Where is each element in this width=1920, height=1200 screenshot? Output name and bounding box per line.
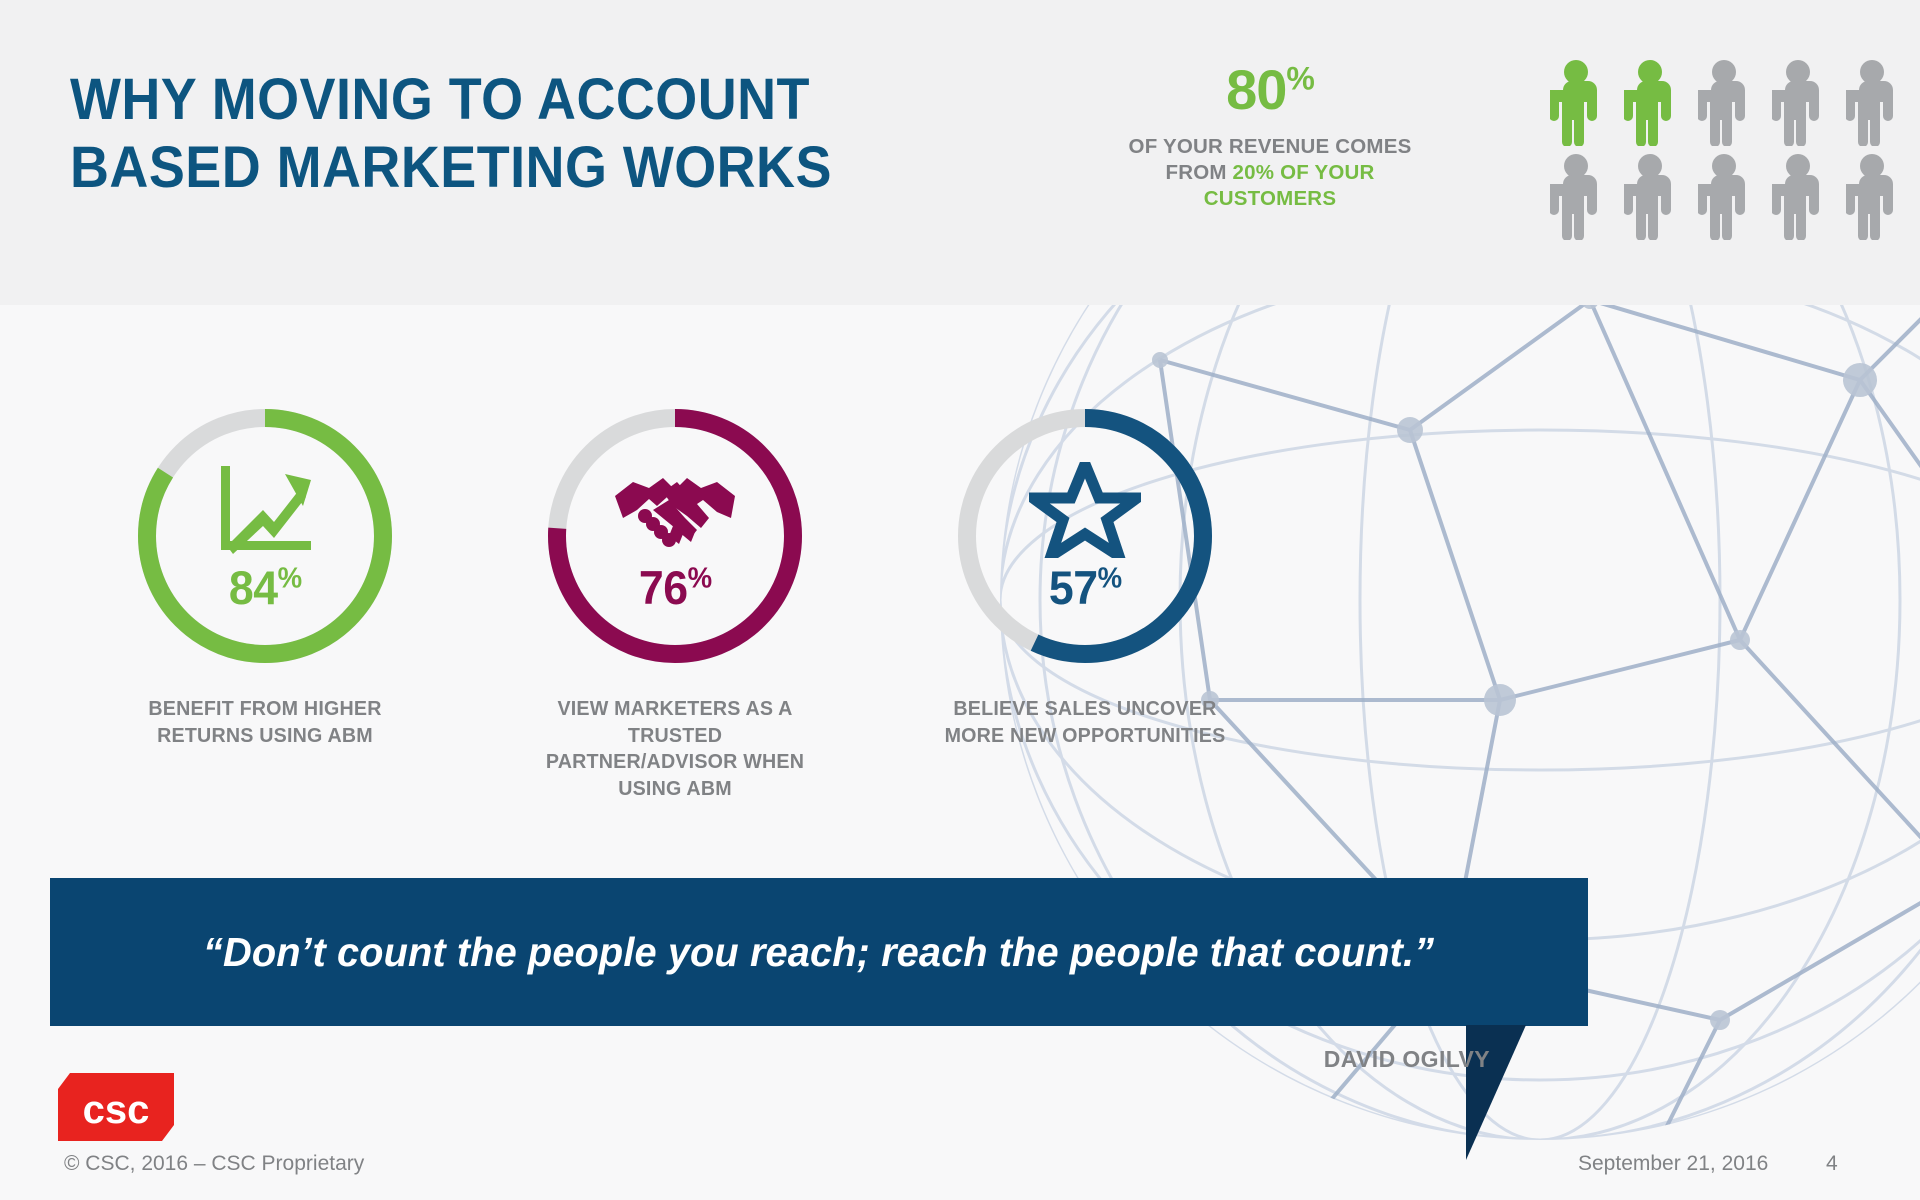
donut-caption-84: BENEFIT FROM HIGHER RETURNS USING ABM: [121, 696, 409, 749]
donut-gauge-sales-opportunities: 57% BELIEVE SALES UNCOVER MORE NEW OPPOR…: [880, 400, 1290, 803]
person-icon-muted: [1550, 154, 1602, 240]
donut-gauge-benefit-returns: 84% BENEFIT FROM HIGHER RETURNS USING AB…: [60, 400, 470, 803]
donut-chart-84: 84%: [129, 400, 401, 672]
growth-chart-icon: [213, 462, 317, 558]
revenue-stat-block: 80% OF YOUR REVENUE COMES FROM 20% OF YO…: [1100, 62, 1440, 213]
donut-value-number: 84: [229, 561, 278, 614]
page-title-line-2: BASED MARKETING WORKS: [70, 134, 944, 202]
donut-gauge-row: 84% BENEFIT FROM HIGHER RETURNS USING AB…: [60, 400, 1290, 803]
quote-banner: “Don’t count the people you reach; reach…: [50, 878, 1588, 1026]
donut-value-76: 76%: [639, 564, 712, 611]
donut-gauge-trusted-partner: 76% VIEW MARKETERS AS A TRUSTED PARTNER/…: [470, 400, 880, 803]
person-icon-muted: [1772, 154, 1824, 240]
footer-date: September 21, 2016: [1578, 1152, 1768, 1176]
donut-center-84: 84%: [129, 400, 401, 672]
donut-percent-symbol: %: [1097, 562, 1121, 594]
page-title: WHY MOVING TO ACCOUNT BASED MARKETING WO…: [70, 66, 944, 203]
donut-value-number: 57: [1049, 561, 1098, 614]
person-icon-highlighted: [1624, 60, 1676, 146]
donut-center-76: 76%: [539, 400, 811, 672]
person-icon-muted: [1846, 60, 1898, 146]
donut-caption-76: VIEW MARKETERS AS A TRUSTED PARTNER/ADVI…: [531, 696, 819, 803]
revenue-stat-percent-symbol: %: [1286, 60, 1313, 96]
person-icon-muted: [1624, 154, 1676, 240]
quote-text: “Don’t count the people you reach; reach…: [203, 929, 1434, 976]
person-icon-muted: [1698, 60, 1750, 146]
person-icon-muted: [1772, 60, 1824, 146]
donut-value-84: 84%: [229, 564, 302, 611]
person-icon-highlighted: [1550, 60, 1602, 146]
person-icon-muted: [1846, 154, 1898, 240]
donut-caption-57: BELIEVE SALES UNCOVER MORE NEW OPPORTUNI…: [941, 696, 1229, 749]
revenue-stat-number: 80%: [1100, 62, 1440, 118]
quote-attribution: DAVID OGILVY: [1150, 1046, 1490, 1073]
donut-value-number: 76: [639, 561, 688, 614]
donut-percent-symbol: %: [687, 562, 711, 594]
donut-value-57: 57%: [1049, 564, 1122, 611]
slide: WHY MOVING TO ACCOUNT BASED MARKETING WO…: [0, 0, 1920, 1200]
page-title-line-1: WHY MOVING TO ACCOUNT: [70, 66, 944, 134]
donut-chart-57: 57%: [949, 400, 1221, 672]
copyright-text: © CSC, 2016 – CSC Proprietary: [64, 1152, 364, 1176]
people-pictogram-grid: [1550, 60, 1908, 242]
revenue-stat-caption: OF YOUR REVENUE COMES FROM 20% OF YOUR C…: [1100, 134, 1440, 213]
donut-center-57: 57%: [949, 400, 1221, 672]
footer-page-number: 4: [1826, 1152, 1838, 1176]
csc-logo: csc: [58, 1073, 174, 1141]
donut-chart-76: 76%: [539, 400, 811, 672]
person-icon-muted: [1698, 154, 1750, 240]
star-icon: [1029, 462, 1141, 558]
csc-logo-text: csc: [83, 1088, 150, 1132]
donut-percent-symbol: %: [277, 562, 301, 594]
handshake-icon: [613, 462, 737, 558]
revenue-stat-value: 80: [1226, 58, 1286, 121]
